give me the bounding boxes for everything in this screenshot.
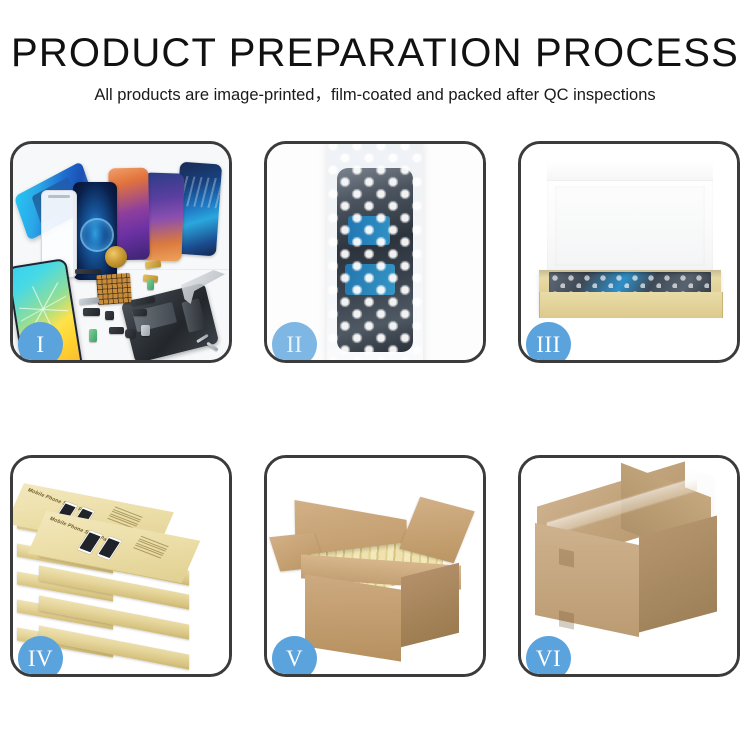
process-step-grid: I II III xyxy=(10,141,740,677)
step-badge-4: IV xyxy=(18,636,63,677)
process-step-panel-3: III xyxy=(518,141,740,363)
step-badge-2: II xyxy=(272,322,317,363)
process-step-panel-5: V xyxy=(264,455,486,677)
step-badge-1: I xyxy=(18,322,63,363)
coil-part-graphic xyxy=(105,246,127,268)
chip-grid-graphic xyxy=(96,273,132,305)
page-subtitle: All products are image-printed，film-coat… xyxy=(0,84,750,106)
process-step-panel-2: II xyxy=(264,141,486,363)
step-badge-3: III xyxy=(526,322,571,363)
page-title: PRODUCT PREPARATION PROCESS xyxy=(0,30,750,76)
carton-front-panel xyxy=(305,574,401,661)
process-step-panel-4: Mobile Phone Spare Parts Mobile Phone Sp… xyxy=(10,455,232,677)
step-badge-6: VI xyxy=(526,636,571,677)
header: PRODUCT PREPARATION PROCESS All products… xyxy=(0,0,750,106)
process-step-panel-1: I xyxy=(10,141,232,363)
carton-side-panel xyxy=(401,563,459,647)
process-step-panel-6: VI xyxy=(518,455,740,677)
step-badge-5: V xyxy=(272,636,317,677)
foam-sheet-graphic xyxy=(555,186,705,266)
mailer-tray-front-graphic xyxy=(539,292,723,318)
bubble-highlight-graphic xyxy=(327,144,423,360)
